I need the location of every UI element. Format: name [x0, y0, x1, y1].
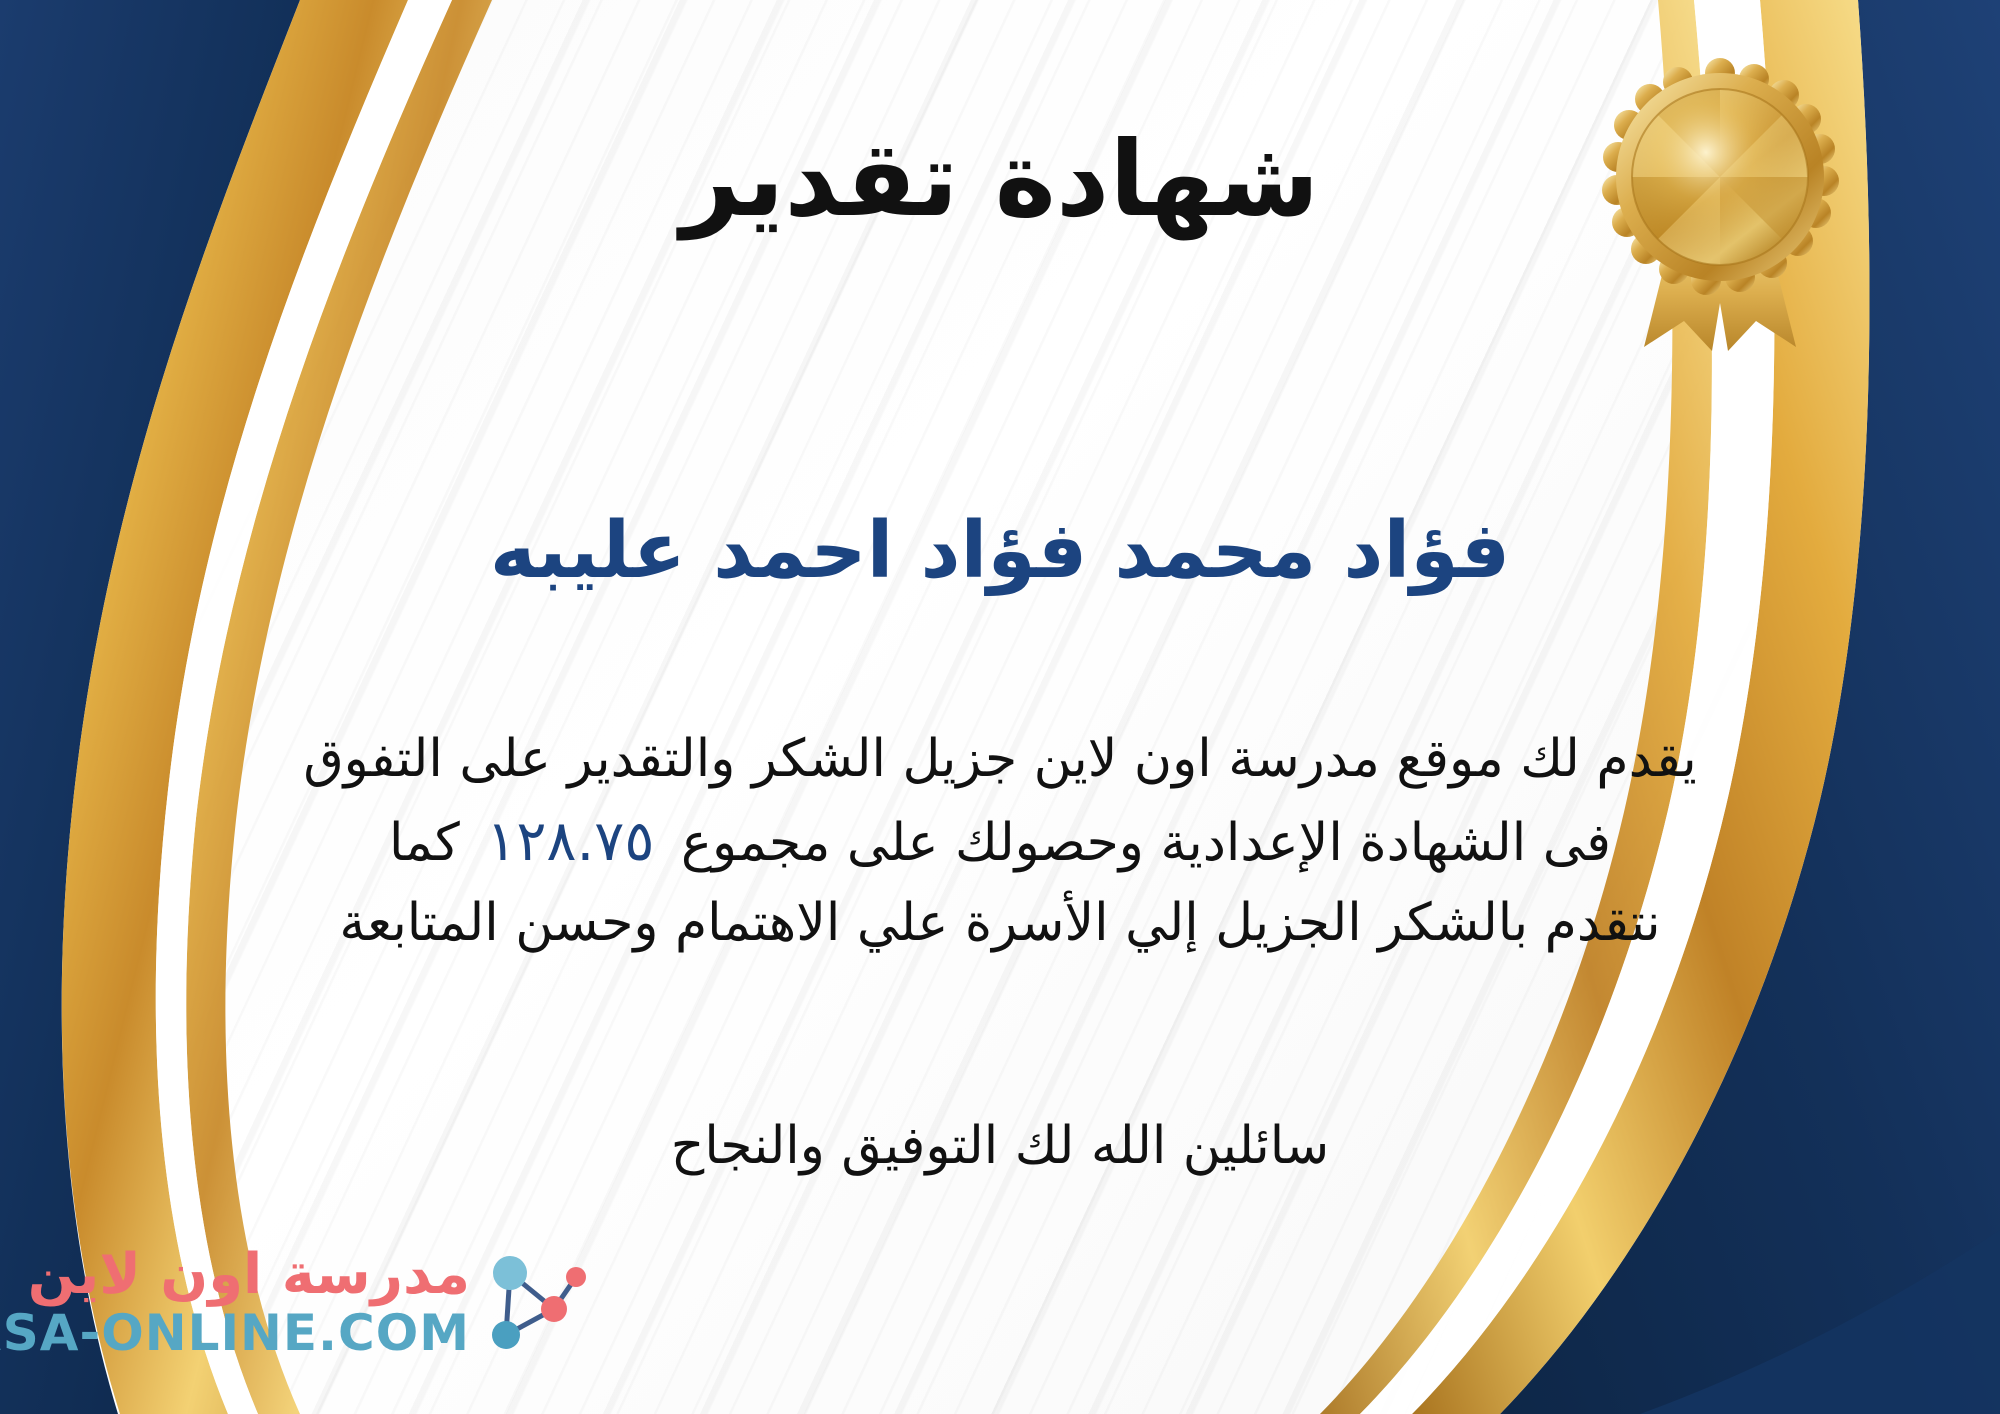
network-nodes-icon: [480, 1247, 588, 1359]
body-line-2: فى الشهادة الإعدادية وحصولك على مجموع ١٢…: [70, 799, 1930, 884]
certificate-content: شهادة تقدير فؤاد محمد فؤاد احمد عليبه يق…: [60, 0, 1940, 1414]
certificate-canvas: شهادة تقدير فؤاد محمد فؤاد احمد عليبه يق…: [0, 0, 2000, 1414]
recipient-name: فؤاد محمد فؤاد احمد عليبه: [60, 505, 1940, 599]
body-line-2-suffix: كما: [389, 813, 460, 873]
score-value: ١٢٨.٧٥: [476, 809, 664, 874]
body-line-3: نتقدم بالشكر الجزيل إلي الأسرة علي الاهت…: [70, 884, 1930, 963]
body-line-2-prefix: فى الشهادة الإعدادية وحصولك على مجموع: [681, 813, 1611, 873]
logo-arabic-text: مدرسة اون لاين: [0, 1246, 470, 1305]
closing-line: سائلين الله لك التوفيق والنجاح: [70, 1110, 1930, 1183]
site-logo[interactable]: مدرسة اون لاين MADRSA-ONLINE.COM: [28, 1246, 588, 1386]
certificate-body: يقدم لك موقع مدرسة اون لاين جزيل الشكر و…: [70, 720, 1930, 963]
page-title: شهادة تقدير: [60, 120, 1940, 240]
logo-domain-text: MADRSA-ONLINE.COM: [0, 1307, 470, 1360]
body-line-1: يقدم لك موقع مدرسة اون لاين جزيل الشكر و…: [70, 720, 1930, 799]
